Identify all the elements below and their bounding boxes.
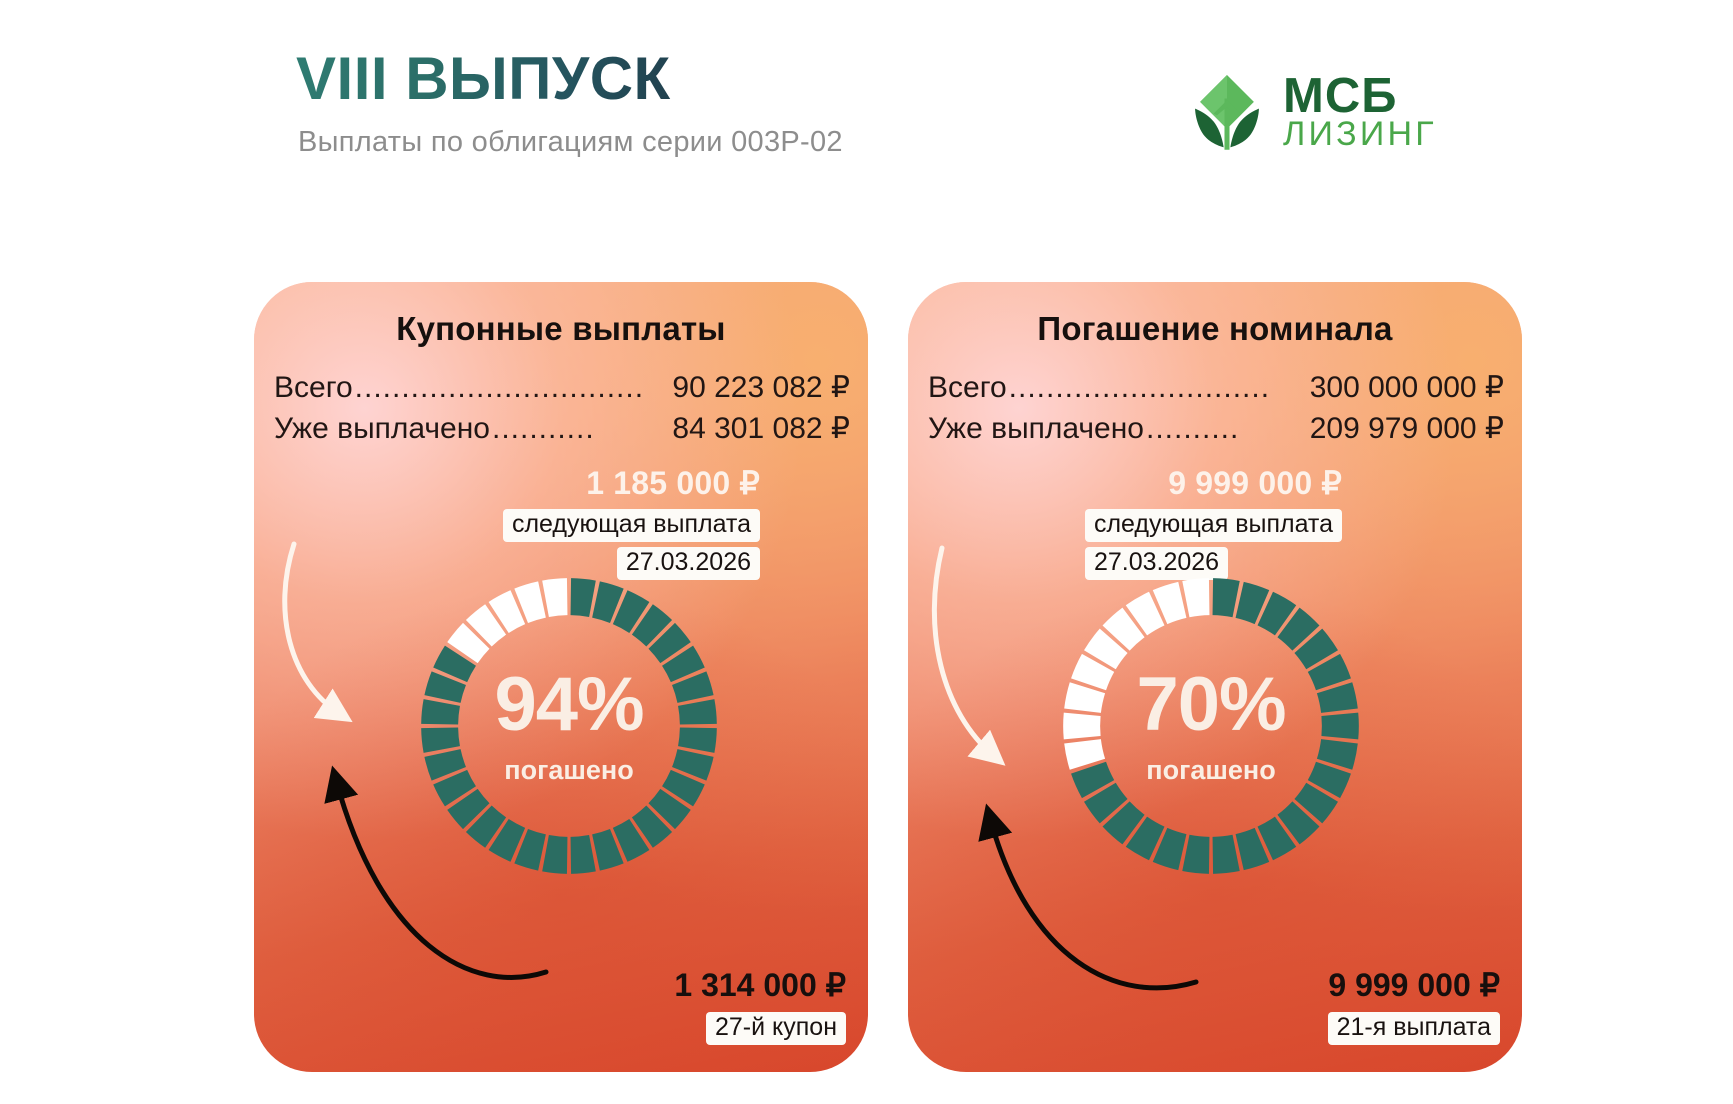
page-subtitle: Выплаты по облигациям серии 003Р-02 bbox=[298, 126, 843, 159]
donut-segment-paid bbox=[1213, 835, 1240, 874]
donut-segment-paid bbox=[1182, 835, 1209, 874]
donut-segment-paid bbox=[571, 835, 596, 874]
next-payment-label: следующая выплата bbox=[1085, 509, 1342, 542]
donut-segment-unpaid bbox=[542, 578, 567, 617]
row-value: 300 000 000 ₽ bbox=[1310, 370, 1504, 405]
infographic-root: VIII ВЫПУСК Выплаты по облигациям серии … bbox=[0, 0, 1733, 1104]
summary-rows: Всего ............................ 300 0… bbox=[928, 370, 1504, 452]
row-value: 209 979 000 ₽ bbox=[1310, 411, 1504, 446]
donut-segment-paid bbox=[542, 835, 567, 874]
card-title: Купонные выплаты bbox=[254, 310, 868, 348]
current-period-amount: 1 314 000 ₽ bbox=[674, 966, 846, 1004]
row-value: 84 301 082 ₽ bbox=[672, 411, 850, 446]
current-period-block: 1 314 000 ₽ 27-й купон bbox=[674, 966, 846, 1050]
summary-row-paid: Уже выплачено .......... 209 979 000 ₽ bbox=[928, 411, 1504, 446]
page-title: VIII ВЫПУСК bbox=[296, 44, 671, 113]
logo-wordmark: МСБ ЛИЗИНГ bbox=[1283, 74, 1437, 150]
current-period-block: 9 999 000 ₽ 21-я выплата bbox=[1328, 966, 1500, 1050]
row-label: Всего bbox=[928, 371, 1007, 405]
donut-segment-unpaid bbox=[1063, 713, 1100, 740]
summary-row-paid: Уже выплачено ........... 84 301 082 ₽ bbox=[274, 411, 850, 446]
next-payment-amount: 9 999 000 ₽ bbox=[1085, 464, 1342, 502]
card-nominal-redemption: Погашение номинала Всего ...............… bbox=[908, 282, 1522, 1072]
row-label: Всего bbox=[274, 371, 353, 405]
donut-segment-paid bbox=[1213, 578, 1240, 617]
next-payment-label: следующая выплата bbox=[503, 509, 760, 542]
card-title: Погашение номинала bbox=[908, 310, 1522, 348]
row-value: 90 223 082 ₽ bbox=[672, 370, 850, 405]
row-dots: ............................ bbox=[1009, 371, 1308, 405]
logo-secondary-text: ЛИЗИНГ bbox=[1283, 119, 1437, 150]
donut-segment-paid bbox=[421, 699, 460, 724]
row-dots: .......... bbox=[1146, 412, 1308, 446]
company-logo: МСБ ЛИЗИНГ bbox=[1185, 70, 1437, 154]
donut-segment-paid bbox=[678, 699, 717, 724]
row-dots: ........... bbox=[492, 412, 670, 446]
current-period-amount: 9 999 000 ₽ bbox=[1328, 966, 1500, 1004]
next-payment-amount: 1 185 000 ₽ bbox=[503, 464, 760, 502]
donut-segment-unpaid bbox=[1182, 578, 1209, 617]
next-payment-block: 9 999 000 ₽ следующая выплата 27.03.2026 bbox=[1085, 464, 1342, 585]
donut-segment-paid bbox=[1321, 713, 1358, 740]
donut-segment-paid bbox=[421, 728, 460, 753]
current-period-label: 27-й купон bbox=[706, 1012, 846, 1045]
donut-segment-paid bbox=[571, 578, 596, 617]
logo-primary-text: МСБ bbox=[1283, 74, 1437, 119]
header: VIII ВЫПУСК Выплаты по облигациям серии … bbox=[0, 0, 1733, 210]
row-label: Уже выплачено bbox=[928, 412, 1144, 446]
current-period-label: 21-я выплата bbox=[1328, 1012, 1500, 1045]
leaf-icon bbox=[1185, 70, 1269, 154]
card-coupon-payments: Купонные выплаты Всего .................… bbox=[254, 282, 868, 1072]
summary-row-total: Всего ............................ 300 0… bbox=[928, 370, 1504, 405]
summary-row-total: Всего ............................... 90… bbox=[274, 370, 850, 405]
next-payment-block: 1 185 000 ₽ следующая выплата 27.03.2026 bbox=[503, 464, 760, 585]
donut-chart-nominal: 70% погашено bbox=[1057, 572, 1365, 880]
donut-chart-coupon: 94% погашено bbox=[415, 572, 723, 880]
summary-rows: Всего ............................... 90… bbox=[274, 370, 850, 452]
row-label: Уже выплачено bbox=[274, 412, 490, 446]
row-dots: ............................... bbox=[355, 371, 671, 405]
donut-segment-paid bbox=[678, 728, 717, 753]
